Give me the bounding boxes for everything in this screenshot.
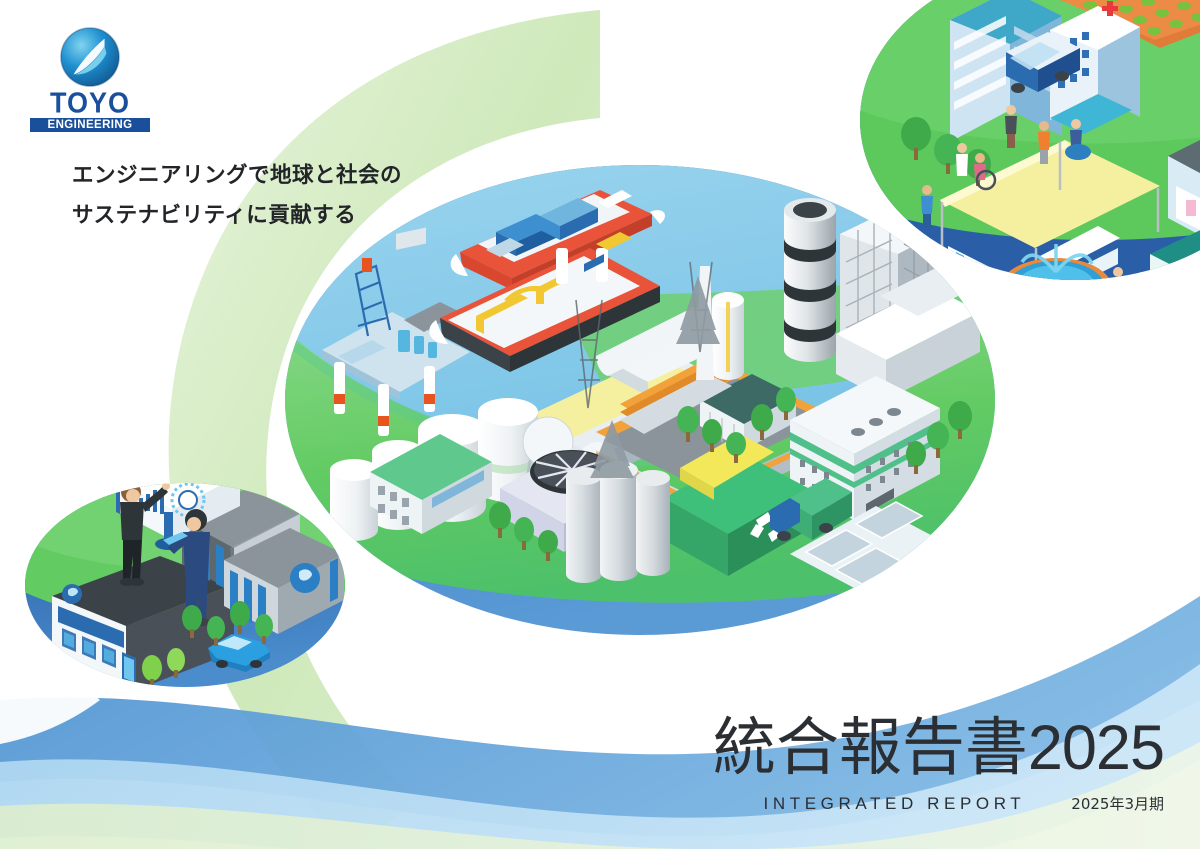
report-title-jp: 統合報告書	[713, 711, 1028, 784]
logo-engineering-text: ENGINEERING	[30, 118, 150, 132]
toyo-engineering-logo: TOYO ENGINEERING	[30, 26, 150, 132]
report-fiscal-period: 2025年3月期	[1071, 793, 1164, 814]
report-subtitle-en: INTEGRATED REPORT	[764, 794, 1026, 814]
report-title-block: 統合報告書2025 INTEGRATED REPORT 2025年3月期	[713, 716, 1164, 814]
logo-toyo-text: TOYO	[30, 89, 150, 117]
report-title-year: 2025	[1028, 713, 1164, 783]
report-title: 統合報告書2025	[713, 716, 1164, 780]
chimney-stack	[784, 198, 836, 362]
horizontal-vessel-2	[712, 292, 744, 380]
datacenter-toyo-logo	[290, 563, 320, 593]
report-cover: TOYO ENGINEERING エンジニアリングで地球と社会の サステナビリテ…	[0, 0, 1200, 849]
tagline-line-1: エンジニアリングで地球と社会の	[72, 156, 592, 196]
cover-tagline: エンジニアリングで地球と社会の サステナビリティに貢献する	[72, 156, 592, 236]
toyo-globe-mark	[59, 26, 121, 88]
silos	[566, 461, 670, 583]
tagline-line-2: サステナビリティに貢献する	[72, 196, 592, 236]
